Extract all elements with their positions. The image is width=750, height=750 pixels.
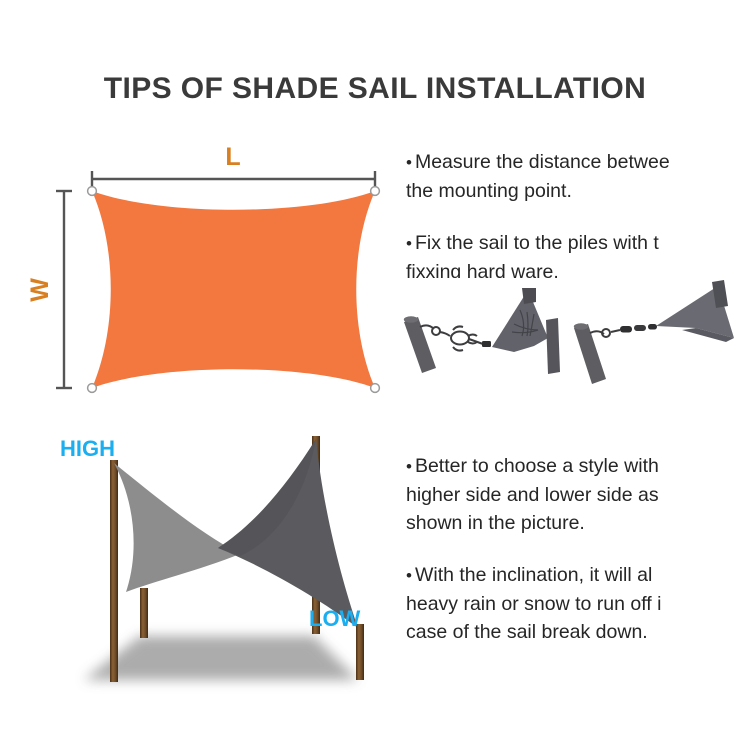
infographic-page: TIPS OF SHADE SAIL INSTALLATION [0,0,750,750]
bottom-tips-text-block: •Better to choose a style with higher si… [406,452,750,657]
label-low: LOW [309,606,361,631]
tip-measure-distance: •Measure the distance betwee the mountin… [406,148,750,205]
crossed-sail-diagram: HIGH LOW [22,430,412,710]
bullet-dot: • [406,153,415,172]
grommet-bottom-left [88,384,97,393]
bullet-dot: • [406,234,415,253]
turnbuckle-hardware-icon [420,325,483,350]
bullet-dot: • [406,566,415,585]
post-front-left [140,588,148,638]
ground-shadow [84,636,358,680]
page-title: TIPS OF SHADE SAIL INSTALLATION [0,72,750,106]
grommet-bottom-right [371,384,380,393]
dimension-label-width: W [26,278,54,302]
chain-hardware-icon [590,329,620,337]
tip-line: •Fix the sail to the piles with t [406,229,750,258]
tip-text: Measure the distance betwee [415,151,670,173]
tip-fix-sail-to-piles: •Fix the sail to the piles with t fixxin… [406,229,750,278]
tip-inclination-runoff: •With the inclination, it will al heavy … [406,561,750,646]
tip-text: Better to choose a style with [415,455,659,477]
tip-line: fixxing hard ware. [406,258,750,278]
width-dimension-line [56,191,72,388]
bullet-dot: • [406,457,415,476]
sail-corner-right [656,280,734,342]
grommet-top-right [371,187,380,196]
dimension-label-length: L [225,143,240,171]
top-section: L W •Measure the distance betwee the mou… [0,130,750,405]
top-tips-text-block: •Measure the distance betwee the mountin… [406,148,750,278]
tip-line: •Better to choose a style with [406,452,750,481]
hardware-illustrations [396,280,750,395]
bottom-section: HIGH LOW •Better to choose a style with … [0,430,750,710]
tip-choose-style: •Better to choose a style with higher si… [406,452,750,537]
grommet-top-left [88,187,97,196]
sail-corner-left [492,288,560,374]
tip-line: the mounting point. [406,177,750,205]
length-dimension-line [92,171,375,187]
shackle-icon [482,341,491,347]
tip-line: higher side and lower side as [406,481,750,509]
tip-text: With the inclination, it will al [415,564,652,586]
tip-line: case of the sail break down. [406,618,750,646]
tip-line: heavy rain or snow to run off i [406,590,750,618]
post-front-right [356,624,364,680]
label-high: HIGH [60,436,115,461]
post-back-left [110,460,118,682]
rectangular-sail-diagram: L W [40,138,400,406]
tip-line: •With the inclination, it will al [406,561,750,590]
chain-link-2 [634,325,646,331]
chain-link-3 [648,324,657,330]
hardware-illustration-right [574,280,734,384]
tip-line: shown in the picture. [406,509,750,537]
tip-line: •Measure the distance betwee [406,148,750,177]
shade-sail-shape [92,191,375,388]
tip-text: Fix the sail to the piles with t [415,232,659,254]
shade-sail-light [114,463,240,592]
mounting-pole-left-icon [404,316,436,373]
hardware-illustration-left [404,288,560,374]
chain-link-1 [620,326,632,333]
